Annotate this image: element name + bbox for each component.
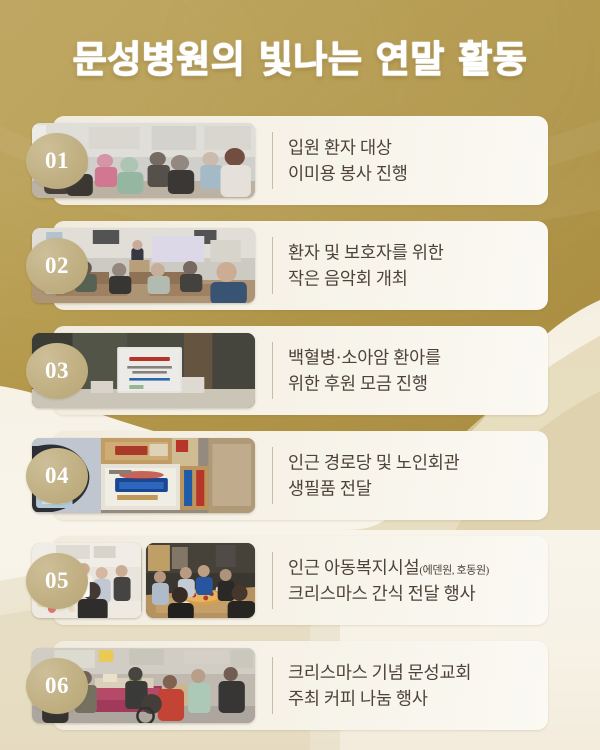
caption-divider [272, 132, 273, 189]
step-number-badge: 04 [26, 448, 88, 504]
step-number-badge: 03 [26, 343, 88, 399]
caption-line-1: 백혈병·소아암 환아를 [288, 344, 488, 371]
caption-divider [272, 447, 273, 504]
activity-caption: 인근 아동복지시설(에덴원, 호동원) 크리스마스 간식 전달 행사 [288, 554, 488, 607]
step-number-badge: 06 [26, 658, 88, 714]
caption-divider [272, 237, 273, 294]
caption-line-1: 인근 아동복지시설(에덴원, 호동원) [288, 554, 488, 581]
caption-note: (에덴원, 호동원) [419, 564, 489, 576]
step-number-badge: 02 [26, 238, 88, 294]
poster-root: 문성병원의 빛나는 연말 활동 [0, 0, 600, 750]
activity-photo [146, 543, 256, 618]
activity-caption: 크리스마스 기념 문성교회 주최 커피 나눔 행사 [288, 659, 488, 712]
caption-line-1: 환자 및 보호자를 위한 [288, 239, 488, 266]
list-item[interactable]: 백혈병·소아암 환아를 위한 후원 모금 진행 03 [0, 326, 600, 415]
activity-caption: 인근 경로당 및 노인회관 생필품 전달 [288, 449, 488, 502]
activity-caption: 백혈병·소아암 환아를 위한 후원 모금 진행 [288, 344, 488, 397]
title-banner: 문성병원의 빛나는 연말 활동 [0, 0, 600, 112]
caption-line-2: 크리스마스 간식 전달 행사 [288, 581, 488, 608]
activity-list: 입원 환자 대상 이미용 봉사 진행 01 [0, 116, 600, 746]
caption-line-2: 주최 커피 나눔 행사 [288, 686, 488, 713]
caption-line-1: 인근 경로당 및 노인회관 [288, 449, 488, 476]
caption-line-2: 작은 음악회 개최 [288, 266, 488, 293]
caption-divider [272, 552, 273, 609]
caption-line-2: 위한 후원 모금 진행 [288, 371, 488, 398]
caption-line-2: 이미용 봉사 진행 [288, 161, 488, 188]
list-item[interactable]: 크리스마스 기념 문성교회 주최 커피 나눔 행사 06 [0, 641, 600, 730]
step-number-badge: 05 [26, 553, 88, 609]
photo-children-snack-table [146, 543, 256, 618]
caption-line-2: 생필품 전달 [288, 476, 488, 503]
step-number-badge: 01 [26, 133, 88, 189]
activity-caption: 환자 및 보호자를 위한 작은 음악회 개최 [288, 239, 488, 292]
list-item[interactable]: 인근 아동복지시설(에덴원, 호동원) 크리스마스 간식 전달 행사 05 [0, 536, 600, 625]
page-title: 문성병원의 빛나는 연말 활동 [73, 29, 528, 83]
list-item[interactable]: 인근 경로당 및 노인회관 생필품 전달 04 [0, 431, 600, 520]
list-item[interactable]: 환자 및 보호자를 위한 작은 음악회 개최 02 [0, 221, 600, 310]
caption-line-1-main: 인근 아동복지시설 [288, 557, 419, 577]
caption-line-1: 크리스마스 기념 문성교회 [288, 659, 488, 686]
caption-divider [272, 342, 273, 399]
caption-line-1: 입원 환자 대상 [288, 134, 488, 161]
activity-caption: 입원 환자 대상 이미용 봉사 진행 [288, 134, 488, 187]
caption-divider [272, 657, 273, 714]
list-item[interactable]: 입원 환자 대상 이미용 봉사 진행 01 [0, 116, 600, 205]
